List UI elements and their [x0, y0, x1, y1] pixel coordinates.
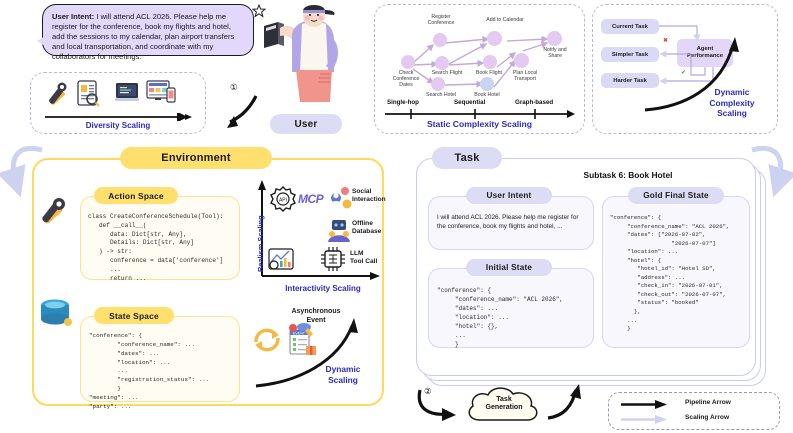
scaling-arrow-sample — [621, 415, 669, 424]
task-generation-line2: Generation — [466, 404, 542, 412]
dcl-1: Dynamic — [689, 87, 775, 98]
step-marker-1: ① — [230, 82, 238, 93]
env-database-icon — [38, 298, 72, 328]
dcl-2: Complexity — [689, 98, 775, 109]
diversity-icons — [43, 79, 195, 115]
action-space-title: Action Space — [94, 187, 178, 204]
task-initial-state-code: "conference": { "conference_name": "ACL … — [437, 286, 563, 349]
environment-title-text: Environment — [161, 152, 230, 164]
node-search-hotel — [431, 77, 445, 91]
legend-scaling-label: Scaling Arrow — [685, 414, 729, 421]
task-gold-final-state-title-text: Gold Final State — [643, 191, 709, 200]
diversity-scaling-box: Diversity Scaling — [30, 72, 206, 134]
task-title: Task — [432, 147, 502, 169]
task-user-intent-text: I will attend ACL 2026. Please help me r… — [437, 213, 587, 232]
bubble-tail — [37, 36, 45, 46]
fail-mark: ✖ — [663, 37, 668, 44]
pipeline-arrow-sample — [621, 400, 669, 409]
realism-scaling-label: Realism Scaling — [256, 215, 265, 272]
axis-tick-graph-based: Graph-based — [515, 99, 553, 106]
action-space-title-text: Action Space — [108, 191, 163, 201]
node-search-flight — [435, 56, 449, 70]
node-label-add-to-calendar: Add to Calendar — [470, 18, 540, 24]
document-search-icon — [78, 81, 99, 106]
user-label: User — [270, 114, 342, 134]
task-gold-final-state-title: Gold Final State — [628, 187, 724, 204]
dynamic-scaling-line2: Scaling — [308, 375, 378, 386]
env-tools-icon — [38, 196, 72, 230]
state-space-title: State Space — [94, 307, 174, 324]
responsive-devices-icon — [147, 81, 175, 102]
dcl-3: Scaling — [689, 108, 775, 119]
node-register-conference — [433, 33, 447, 47]
node-label-plan-local-transport: Plan LocalTransport — [501, 71, 549, 83]
action-space-code: class CreateConferenceSchedule(Tool): de… — [88, 213, 223, 284]
chip-llm-icon — [320, 246, 346, 272]
static-complexity-box: RegisterConference Add to Calendar Notif… — [374, 4, 585, 134]
task-user-intent-title: User Intent — [466, 187, 552, 204]
laptop-code-icon — [115, 83, 139, 101]
user-label-text: User — [294, 119, 317, 130]
legend-pipeline-label: Pipeline Arrow — [685, 399, 731, 406]
interactivity-scaling-label: Interactivity Scaling — [258, 284, 388, 293]
node-book-hotel — [480, 77, 494, 91]
interactivity-realism-chart: Realism Scaling API MCP SocialInteractio… — [248, 176, 380, 294]
task-initial-state-title-text: Initial State — [486, 263, 532, 272]
task-user-intent-card: I will attend ACL 2026. Please help me r… — [428, 196, 594, 250]
offline-database-icon — [326, 218, 352, 244]
offline-database-label: OfflineDatabase — [352, 220, 392, 236]
legend-box: Pipeline Arrow Scaling Arrow — [608, 392, 780, 430]
async-event-line1: Asynchronous — [276, 308, 356, 317]
chart-report-icon — [268, 248, 294, 272]
task-generation-line1: Task — [466, 396, 542, 404]
dynamic-scaling-label: Dynamic Scaling — [308, 364, 378, 386]
task-generation-label: Task Generation — [466, 396, 542, 413]
dynamic-complexity-label: Dynamic Complexity Scaling — [689, 87, 775, 119]
axis-tick-single-hop: Single-hop — [387, 99, 419, 106]
state-space-card: "conference": { "conference_name": ... "… — [80, 316, 240, 402]
api-gear-icon: API — [270, 186, 296, 212]
task-initial-state-title: Initial State — [466, 259, 552, 276]
dynamic-scaling-line1: Dynamic — [308, 364, 378, 375]
mcp-logo: MCP — [298, 192, 323, 206]
state-space-title-text: State Space — [109, 311, 159, 321]
environment-title: Environment — [120, 147, 272, 169]
static-complexity-label: Static Complexity Scaling — [375, 119, 584, 129]
action-space-card: class CreateConferenceSchedule(Tool): de… — [80, 196, 240, 280]
node-label-notify-and-share: Notify andShare — [530, 48, 580, 60]
node-label-register-conference: RegisterConference — [413, 15, 469, 27]
task-title-text: Task — [454, 152, 479, 164]
pass-mark: ✔ — [681, 69, 686, 76]
node-add-to-calendar — [487, 31, 502, 46]
axis-tick-sequential: Sequential — [454, 99, 485, 106]
task-initial-state-card: "conference": { "conference_name": "ACL … — [428, 268, 594, 348]
task-gold-final-state-card: "conference": { "conference_name": "ACL … — [602, 196, 750, 348]
node-notify-and-share — [547, 31, 562, 46]
task-gold-final-state-code: "conference": { "conference_name": "ACL … — [610, 214, 729, 334]
social-users-icon — [328, 186, 352, 212]
dynamic-complexity-box: Current Task Simpler Task Harder Task Ag… — [592, 4, 778, 134]
user-illustration — [262, 2, 344, 114]
node-check-conference-dates — [401, 55, 415, 69]
state-space-code: "conference": { "conference_name": ... "… — [89, 332, 209, 412]
pipeline-arrow-1 — [218, 78, 268, 136]
task-user-intent-title-text: User Intent — [487, 191, 532, 200]
node-book-flight — [483, 55, 497, 69]
user-intent-bubble: User Intent: I will attend ACL 2026. Ple… — [42, 4, 254, 56]
svg-text:API: API — [279, 198, 287, 204]
node-plan-local-transport — [514, 53, 529, 68]
llm-tool-call-label: LLMTool Call — [350, 250, 390, 266]
user-intent-label: User Intent: — [52, 12, 94, 21]
social-interaction-label: SocialInteraction — [352, 188, 392, 204]
tools-icon — [48, 83, 66, 106]
subtask-title: Subtask 6: Book Hotel — [510, 170, 746, 180]
diversity-axis-arrow — [45, 113, 193, 121]
diversity-scaling-label: Diversity Scaling — [31, 121, 205, 130]
step-marker-2: ② — [424, 386, 432, 397]
